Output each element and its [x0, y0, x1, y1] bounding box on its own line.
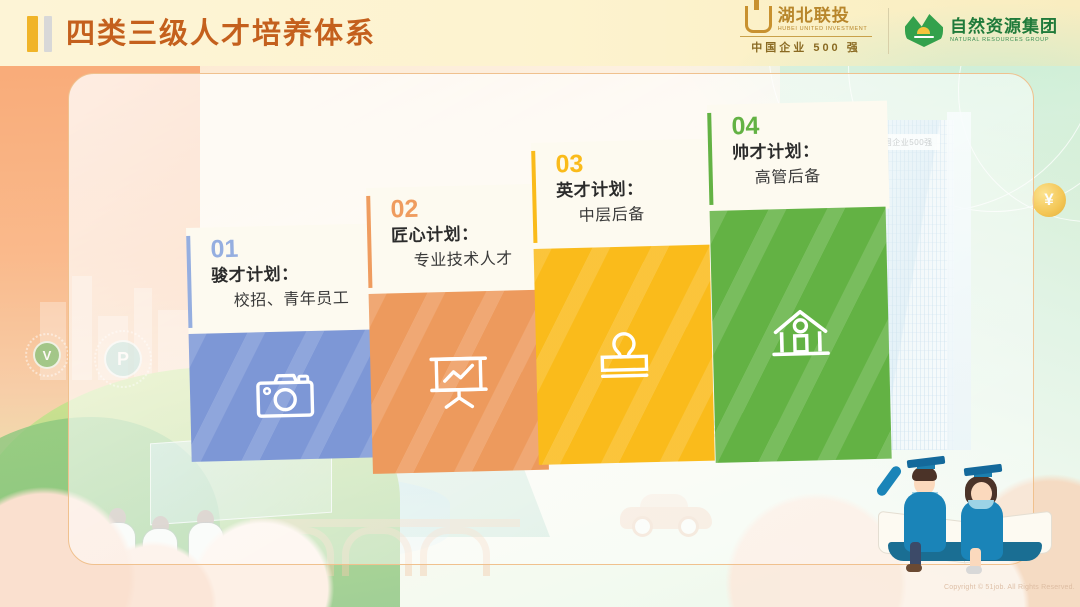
step-label-04: 04 帅才计划： 高管后备: [707, 101, 890, 213]
step-number-01: 01: [210, 233, 367, 263]
step-subtitle-03: 中层后备: [579, 201, 698, 229]
step-number-02: 02: [390, 193, 531, 222]
step-title-02: 匠心计划：: [391, 219, 532, 249]
step-accent-bar-01: [186, 236, 192, 328]
graduates-illustration: [860, 440, 1070, 590]
step-title-04: 帅才计划：: [732, 136, 873, 166]
slide-root: P V 聚矿兴产 矿化一体 中国企业500: [0, 0, 1080, 607]
step-block-04: [710, 207, 892, 463]
step-accent-bar-02: [366, 196, 372, 288]
step-subtitle-01: 校招、青年员工: [234, 286, 369, 314]
graduate-male: [890, 450, 960, 560]
step-block-03: [534, 245, 715, 465]
stamp-icon: [595, 327, 654, 382]
copyright-watermark: Copyright © 51job. All Rights Reserved.: [944, 584, 1075, 591]
step-accent-bar-04: [707, 113, 713, 205]
step-block-02: [369, 290, 549, 474]
graduate-female: [952, 460, 1022, 565]
presentation-chart-icon: [427, 352, 490, 411]
step-label-01: 01 骏才计划： 校招、青年员工: [186, 223, 385, 336]
camera-icon: [255, 371, 316, 420]
step-subtitle-02: 专业技术人才: [414, 246, 533, 274]
step-label-03: 03 英才计划： 中层后备: [531, 139, 714, 251]
step-number-04: 04: [731, 110, 872, 139]
step-number-03: 03: [555, 148, 696, 177]
step-title-01: 骏才计划：: [211, 259, 368, 290]
home-icon: [769, 307, 832, 362]
step-title-03: 英才计划：: [556, 174, 697, 204]
step-block-01: [189, 329, 382, 462]
step-accent-bar-03: [531, 151, 537, 243]
step-label-02: 02 匠心计划： 专业技术人才: [366, 184, 549, 296]
step-subtitle-04: 高管后备: [755, 163, 874, 191]
